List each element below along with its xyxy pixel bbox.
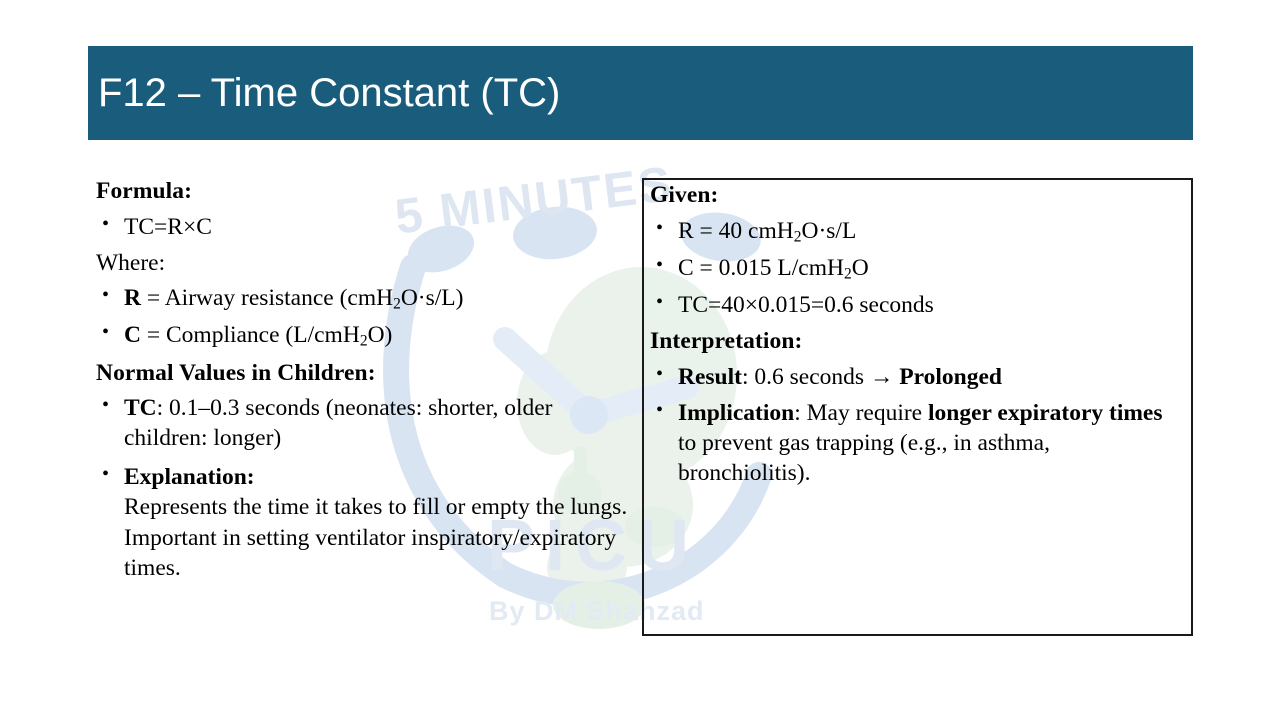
given-item-r: R = 40 cmH2O·s/L bbox=[650, 216, 1178, 247]
page-title: F12 – Time Constant (TC) bbox=[98, 73, 560, 113]
where-term-r: R bbox=[124, 285, 141, 311]
given-item-c: C = 0.015 L/cmH2O bbox=[650, 253, 1178, 284]
normal-values-term: TC bbox=[124, 395, 157, 421]
right-example-panel: Given: R = 40 cmH2O·s/L C = 0.015 L/cmH2… bbox=[642, 178, 1193, 636]
where-label: Where: bbox=[96, 248, 630, 279]
given-item-r-text: R = 40 cmH2O·s/L bbox=[678, 218, 856, 244]
implication-emphasis: longer expiratory times bbox=[928, 400, 1163, 426]
implication-text-after: to prevent gas trapping (e.g., in asthma… bbox=[678, 430, 1050, 486]
given-item-tc: TC=40×0.015=0.6 seconds bbox=[650, 290, 1178, 320]
normal-values-text: : 0.1–0.3 seconds (neonates: shorter, ol… bbox=[124, 395, 553, 451]
where-def-c: = Compliance (L/cmH2O) bbox=[141, 322, 392, 348]
given-heading: Given: bbox=[650, 180, 1178, 211]
interpretation-heading: Interpretation: bbox=[650, 326, 1178, 357]
normal-values-bullet: TC: 0.1–0.3 seconds (neonates: shorter, … bbox=[96, 393, 630, 453]
implication-bullet: Implication: May require longer expirato… bbox=[650, 398, 1178, 488]
result-emphasis: Prolonged bbox=[899, 364, 1002, 390]
explanation-title: Explanation: bbox=[124, 462, 630, 492]
formula-bullet-text: TC=R×C bbox=[124, 214, 212, 240]
implication-text-before: : May require bbox=[794, 400, 928, 426]
slide-canvas: 5 MINUTES PICU By DM Shahzad F12 – Time … bbox=[0, 0, 1280, 720]
explanation-body: Represents the time it takes to fill or … bbox=[124, 494, 627, 580]
result-text: : 0.6 seconds → bbox=[742, 364, 899, 390]
where-term-c: C bbox=[124, 322, 141, 348]
normal-values-heading: Normal Values in Children: bbox=[96, 358, 630, 389]
right-panel-content: Given: R = 40 cmH2O·s/L C = 0.015 L/cmH2… bbox=[650, 180, 1178, 494]
given-item-tc-text: TC=40×0.015=0.6 seconds bbox=[678, 292, 934, 318]
left-content-column: Formula: TC=R×C Where: R = Airway resist… bbox=[96, 176, 630, 589]
implication-term: Implication bbox=[678, 400, 794, 426]
result-bullet: Result: 0.6 seconds → Prolonged bbox=[650, 362, 1178, 392]
slide-header-bar: F12 – Time Constant (TC) bbox=[88, 46, 1193, 140]
result-term: Result bbox=[678, 364, 742, 390]
explanation-bullet: Explanation: Represents the time it take… bbox=[96, 462, 630, 582]
formula-bullet: TC=R×C bbox=[96, 212, 630, 242]
where-item-c: C = Compliance (L/cmH2O) bbox=[96, 320, 630, 351]
formula-heading: Formula: bbox=[96, 176, 630, 207]
where-def-r: = Airway resistance (cmH2O·s/L) bbox=[141, 285, 464, 311]
where-item-r: R = Airway resistance (cmH2O·s/L) bbox=[96, 283, 630, 314]
given-item-c-text: C = 0.015 L/cmH2O bbox=[678, 255, 869, 281]
